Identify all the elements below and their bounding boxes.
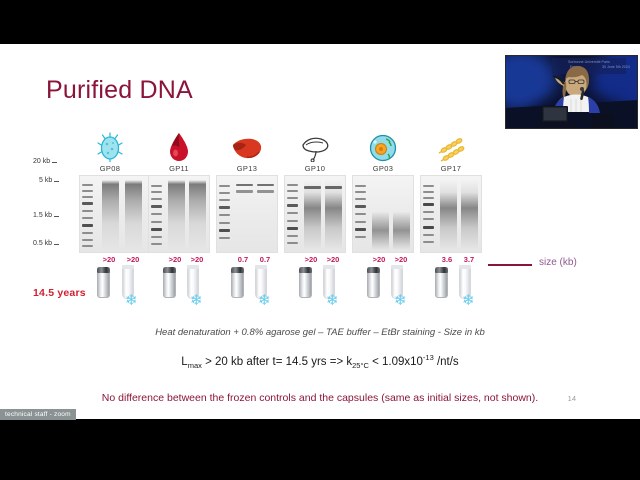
- value-capsule: >20: [301, 255, 321, 264]
- gel-lane-capsule: [440, 180, 457, 250]
- capsule-icon: [231, 267, 244, 298]
- svg-text:Sorbonne Université Paris: Sorbonne Université Paris: [568, 60, 610, 64]
- ladder-label-1-5kb: 1.5 kb: [33, 212, 52, 219]
- conclusion-note: No difference between the frozen control…: [102, 392, 538, 404]
- gel-image-gp08: [79, 175, 153, 253]
- taskbar-window-button[interactable]: technical staff - zoom: [0, 409, 76, 420]
- dna-ladder: [219, 180, 230, 250]
- value-control: >20: [187, 255, 207, 264]
- formula-units: /nt/s: [434, 356, 459, 368]
- formula-k-sub: 25°C: [352, 361, 369, 370]
- value-capsule: >20: [99, 255, 119, 264]
- gel-lane-control: [189, 180, 206, 250]
- value-control: 3.7: [459, 255, 479, 264]
- gel-lane-capsule: [236, 180, 253, 250]
- tubes-gp13: ❄: [216, 267, 278, 311]
- value-control: >20: [323, 255, 343, 264]
- snowflake-icon: ❄: [462, 293, 475, 308]
- screen: Purified DNA 20 kb 5 kb 1.5 kb 0.5 kb 14…: [0, 0, 640, 480]
- value-capsule: 0.7: [233, 255, 253, 264]
- sample-column-gp13: GP13 0.7 0.7: [216, 128, 278, 311]
- sample-id-label: GP08: [79, 164, 141, 173]
- saliva-mouth-icon: [284, 128, 346, 162]
- gel-lane-control: [461, 180, 478, 250]
- sample-id-label: GP13: [216, 164, 278, 173]
- capsule-icon: [299, 267, 312, 298]
- capsule-icon: [367, 267, 380, 298]
- webcam-video-tile[interactable]: Sorbonne Université Paris France 30 June…: [505, 55, 638, 129]
- sample-column-gp08: GP08 >20 >20 ❄: [79, 128, 141, 311]
- cell-nucleus-icon: [352, 128, 414, 162]
- gel-image-gp03: [352, 175, 414, 253]
- dna-ladder: [151, 180, 162, 250]
- snowflake-icon: ❄: [258, 293, 271, 308]
- gel-image-gp17: [420, 175, 482, 253]
- formula-lmax-sub: max: [188, 361, 202, 370]
- blood-drop-icon: [148, 128, 210, 162]
- sample-column-gp17: GP17 3.6 3.7 ❄: [420, 128, 482, 311]
- sample-id-label: GP11: [148, 164, 210, 173]
- size-values-gp10: >20 >20: [284, 253, 346, 267]
- bacterium-icon: [79, 128, 141, 162]
- ladder-label-20kb: 20 kb: [33, 158, 50, 165]
- page-title: Purified DNA: [46, 76, 193, 105]
- capsule-icon: [163, 267, 176, 298]
- tubes-gp10: ❄: [284, 267, 346, 311]
- svg-text:30 June 5th 2024: 30 June 5th 2024: [602, 65, 630, 69]
- size-values-gp17: 3.6 3.7: [420, 253, 482, 267]
- value-control: >20: [391, 255, 411, 264]
- gel-lane-control: [393, 180, 410, 250]
- snowflake-icon: ❄: [190, 293, 203, 308]
- dna-ladder: [423, 180, 434, 250]
- formula-line: Lmax > 20 kb after t= 14.5 yrs => k25°C …: [181, 353, 458, 370]
- tubes-gp08: ❄: [79, 267, 141, 311]
- gel-image-gp11: [148, 175, 210, 253]
- ladder-label-0-5kb: 0.5 kb: [33, 240, 52, 247]
- size-values-gp13: 0.7 0.7: [216, 253, 278, 267]
- value-capsule: 3.6: [437, 255, 457, 264]
- value-control: >20: [123, 255, 143, 264]
- gel-lane-capsule: [372, 180, 389, 250]
- sample-id-label: GP10: [284, 164, 346, 173]
- gel-lane-control: [325, 180, 342, 250]
- size-values-gp11: >20 >20: [148, 253, 210, 267]
- snowflake-icon: ❄: [394, 293, 407, 308]
- timepoint-label: 14.5 years: [33, 287, 86, 299]
- gel-lane-capsule: [102, 180, 119, 250]
- value-capsule: >20: [369, 255, 389, 264]
- sample-column-gp11: GP11 >20 >20 ❄: [148, 128, 210, 311]
- gel-lane-capsule: [304, 180, 321, 250]
- gel-lane-control: [125, 180, 142, 250]
- dna-ladder: [82, 180, 93, 250]
- formula-exponent: -13: [423, 353, 434, 362]
- wheat-icon: [420, 128, 482, 162]
- gel-lane-control: [257, 180, 274, 250]
- sample-id-label: GP03: [352, 164, 414, 173]
- method-caption: Heat denaturation + 0.8% agarose gel – T…: [155, 327, 485, 338]
- tubes-gp11: ❄: [148, 267, 210, 311]
- dna-ladder: [355, 180, 366, 250]
- formula-mid: > 20 kb after t= 14.5 yrs => k: [202, 356, 352, 368]
- capsule-icon: [435, 267, 448, 298]
- tubes-gp03: ❄: [352, 267, 414, 311]
- ladder-label-5kb: 5 kb: [39, 177, 52, 184]
- sample-id-label: GP17: [420, 164, 482, 173]
- size-callout-line: [488, 264, 532, 266]
- gel-image-gp10: [284, 175, 346, 253]
- value-control: 0.7: [255, 255, 275, 264]
- sample-column-gp03: GP03 >20 >20 ❄: [352, 128, 414, 311]
- size-callout-label: size (kb): [539, 257, 577, 268]
- snowflake-icon: ❄: [125, 293, 138, 308]
- capsule-icon: [97, 267, 110, 298]
- sample-column-gp10: GP10 >20 >20: [284, 128, 346, 311]
- size-values-gp03: >20 >20: [352, 253, 414, 267]
- formula-tail: < 1.09x10: [369, 356, 423, 368]
- gel-lane-capsule: [168, 180, 185, 250]
- gel-image-gp13: [216, 175, 278, 253]
- tubes-gp17: ❄: [420, 267, 482, 311]
- value-capsule: >20: [165, 255, 185, 264]
- snowflake-icon: ❄: [326, 293, 339, 308]
- slide-number: 14: [568, 394, 576, 403]
- dna-ladder: [287, 180, 298, 250]
- liver-icon: [216, 128, 278, 162]
